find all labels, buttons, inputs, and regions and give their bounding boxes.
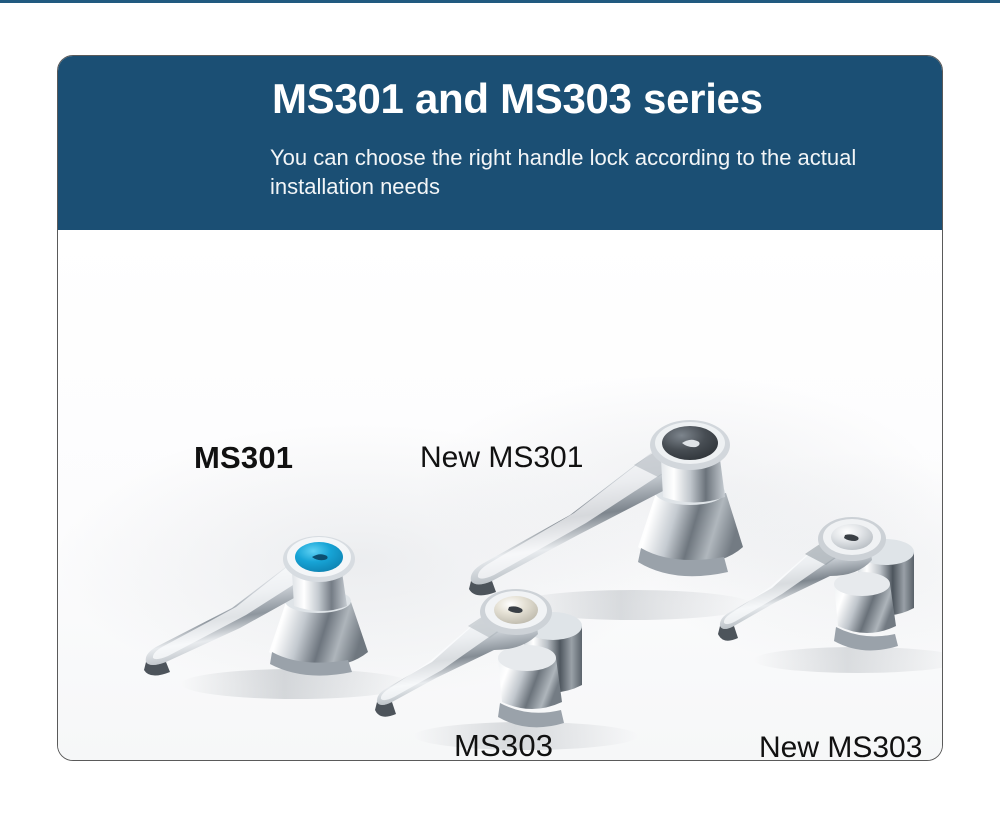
product-label-new-ms301: New MS301 (420, 443, 583, 473)
product-image-new-ms303 (718, 492, 943, 682)
product-stage: MS301 New MS301 MS303 New MS303 (58, 230, 943, 761)
product-card: MS301 and MS303 series You can choose th… (57, 55, 943, 761)
top-accent-rule (0, 0, 1000, 3)
product-label-ms301: MS301 (194, 442, 293, 473)
product-banner: MS301 and MS303 series You can choose th… (0, 0, 1000, 815)
product-label-ms303: MS303 (454, 730, 553, 761)
header-subtitle: You can choose the right handle lock acc… (270, 143, 870, 201)
page-title: MS301 and MS303 series (272, 75, 763, 123)
card-header: MS301 and MS303 series You can choose th… (57, 55, 943, 230)
product-label-new-ms303: New MS303 (759, 733, 922, 761)
